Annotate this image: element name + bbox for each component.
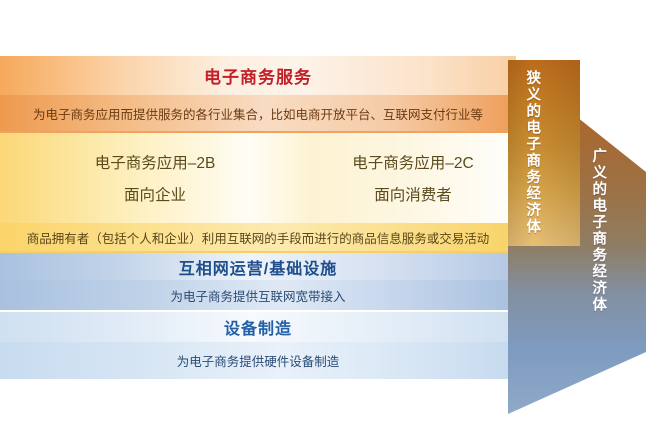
- layer-network-description-band: 为电子商务提供互联网宽带接入: [0, 280, 516, 312]
- layer-network-title-band: 互相网运营/基础设施: [0, 253, 516, 280]
- layer-equipment-description-band: 为电子商务提供硬件设备制造: [0, 342, 516, 379]
- layer-network-title: 互相网运营/基础设施: [179, 255, 337, 279]
- layer-network-description: 为电子商务提供互联网宽带接入: [170, 286, 345, 305]
- layer-application-band: 电子商务应用–2B 面向企业 电子商务应用–2C 面向消费者: [0, 133, 516, 223]
- layer-equipment-title-band: 设备制造: [0, 312, 516, 342]
- layer-application-description: 商品拥有者（包括个人和企业）利用互联网的手段而进行的商品信息服务或交易活动: [27, 228, 490, 247]
- layer-application-description-band: 商品拥有者（包括个人和企业）利用互联网的手段而进行的商品信息服务或交易活动: [0, 223, 516, 253]
- layer-equipment-description: 为电子商务提供硬件设备制造: [177, 351, 340, 370]
- scope-banner-group: 狭义的电子商务经济体 广义的电子商务经济体: [506, 52, 652, 424]
- application-column-2c: 电子商务应用–2C 面向消费者: [310, 133, 516, 223]
- application-2b-subheading: 面向企业: [124, 183, 186, 205]
- layer-service-title: 电子商务服务: [204, 63, 312, 88]
- layer-service-title-band: 电子商务服务: [0, 56, 516, 95]
- scope-banner-shapes: [506, 52, 652, 424]
- application-2b-heading: 电子商务应用–2B: [95, 151, 216, 173]
- application-2c-subheading: 面向消费者: [374, 183, 452, 205]
- ecommerce-layer-diagram: 电子商务服务 为电子商务应用而提供服务的各行业集合，比如电商开放平台、互联网支付…: [0, 0, 652, 430]
- application-2c-heading: 电子商务应用–2C: [352, 151, 473, 173]
- application-column-2b: 电子商务应用–2B 面向企业: [0, 133, 310, 223]
- layer-service-description: 为电子商务应用而提供服务的各行业集合，比如电商开放平台、互联网支付行业等: [33, 104, 483, 123]
- narrow-scope-shading: [508, 60, 580, 246]
- layer-service-description-band: 为电子商务应用而提供服务的各行业集合，比如电商开放平台、互联网支付行业等: [0, 95, 516, 133]
- layer-equipment-title: 设备制造: [224, 315, 292, 339]
- layer-stack: 电子商务服务 为电子商务应用而提供服务的各行业集合，比如电商开放平台、互联网支付…: [0, 56, 516, 414]
